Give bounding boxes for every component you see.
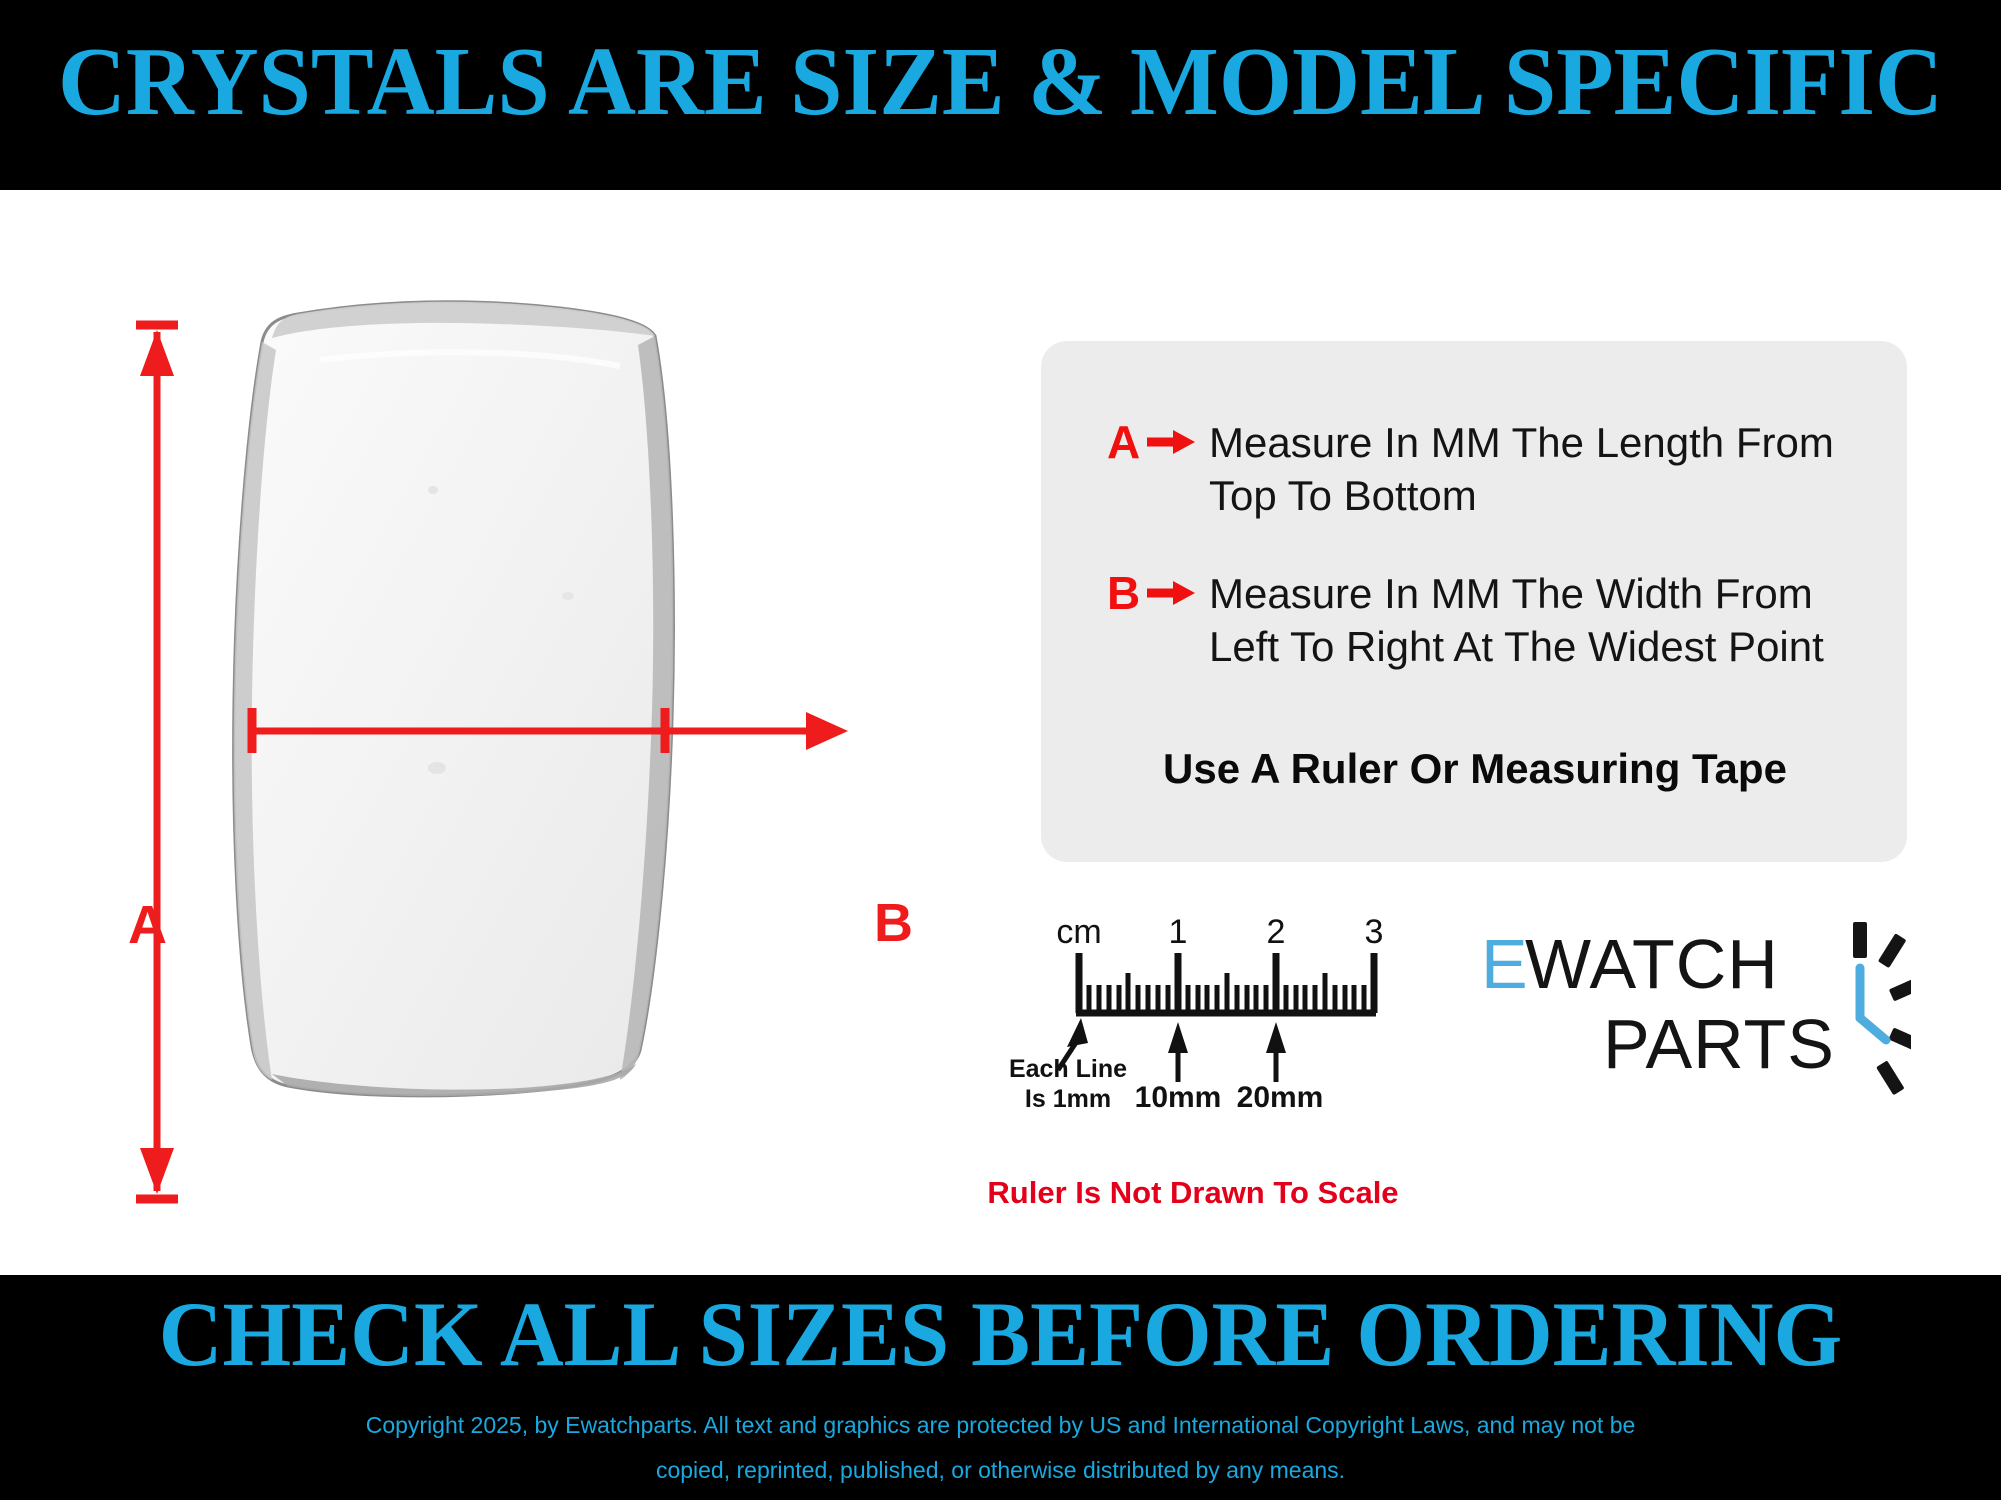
page-title: CRYSTALS ARE SIZE & MODEL SPECIFIC — [30, 26, 1971, 137]
instruction-footer-note: Use A Ruler Or Measuring Tape — [1163, 745, 1787, 793]
ruler-cm-label-2: 2 — [1267, 913, 1286, 951]
copyright-line-2: copied, reprinted, published, or otherwi… — [0, 1448, 2001, 1493]
logo-illustration: E WATCH PARTS — [1481, 920, 1911, 1110]
instruction-key-b: B — [1107, 567, 1145, 619]
logo-text-parts: PARTS — [1603, 1005, 1835, 1083]
watch-hands-icon — [1860, 968, 1886, 1040]
ewatchparts-logo: E WATCH PARTS — [1481, 920, 1911, 1110]
each-line-note-line1: Each Line — [978, 1054, 1158, 1084]
footer-title: CHECK ALL SIZES BEFORE ORDERING — [40, 1281, 1961, 1387]
instruction-key-a: A — [1107, 416, 1145, 468]
dimension-b-label: B — [874, 896, 913, 950]
crystal-illustration — [0, 190, 1000, 1275]
callout-arrow-10mm — [1168, 1022, 1188, 1082]
instruction-panel: A Measure In MM The Length From Top To B… — [1041, 341, 1907, 862]
ruler-unit-label: cm — [1056, 913, 1101, 951]
arrow-right-icon — [1145, 416, 1197, 468]
ruler-illustration: cm 1 2 3 10mm 20mm — [988, 895, 1408, 1155]
arrow-right-icon — [1145, 567, 1197, 619]
header-banner: CRYSTALS ARE SIZE & MODEL SPECIFIC — [0, 0, 2001, 190]
dimension-a-arrow — [136, 325, 178, 1199]
crystal-body — [234, 302, 674, 1096]
dimension-a-label: A — [128, 898, 167, 952]
instruction-text-b: Measure In MM The Width From Left To Rig… — [1209, 567, 1824, 673]
each-line-note: Each Line Is 1mm — [978, 1054, 1158, 1114]
logo-text-watch: WATCH — [1525, 925, 1779, 1003]
each-line-note-line2: Is 1mm — [978, 1084, 1158, 1114]
ruler-graphic: cm 1 2 3 10mm 20mm Each Line Is 1mm — [988, 895, 1408, 1155]
copyright-line-1: Copyright 2025, by Ewatchparts. All text… — [0, 1403, 2001, 1448]
instruction-text-a: Measure In MM The Length From Top To Bot… — [1209, 416, 1834, 522]
instruction-item-b: B Measure In MM The Width From Left To R… — [1107, 567, 1824, 673]
footer-banner: CHECK ALL SIZES BEFORE ORDERING Copyrigh… — [0, 1275, 2001, 1500]
callout-arrow-20mm — [1266, 1022, 1286, 1082]
ruler-cm-label-3: 3 — [1365, 913, 1384, 951]
ruler-not-to-scale-note: Ruler Is Not Drawn To Scale — [968, 1175, 1418, 1211]
ruler-callout-20mm: 20mm — [1237, 1081, 1324, 1114]
instruction-item-a: A Measure In MM The Length From Top To B… — [1107, 416, 1834, 522]
crystal-diagram: A B — [0, 190, 1000, 1275]
ruler-cm-label-1: 1 — [1169, 913, 1188, 951]
logo-letter-e: E — [1481, 925, 1529, 1003]
